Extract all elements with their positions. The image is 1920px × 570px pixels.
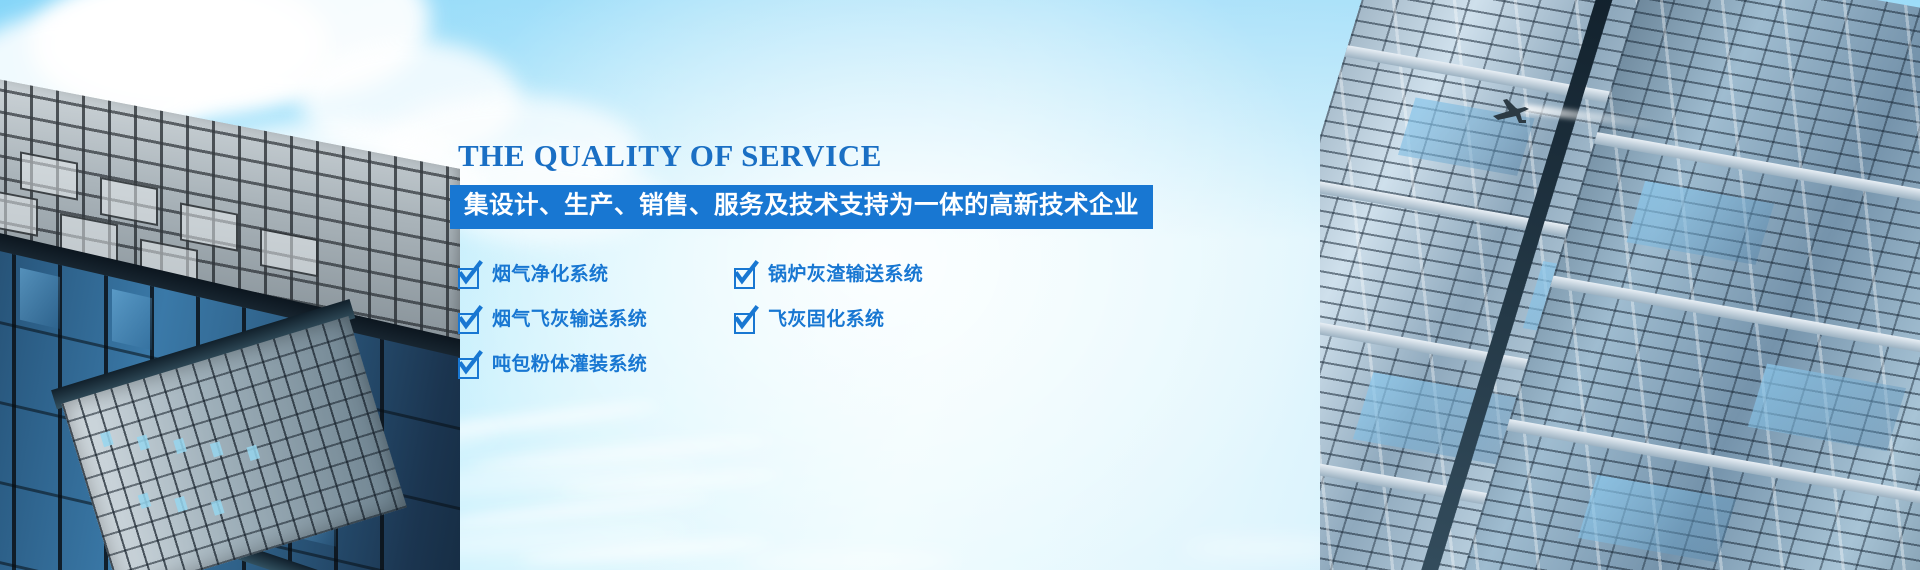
banner-content: THE QUALITY OF SERVICE 集设计、生产、销售、服务及技术支持… bbox=[458, 140, 1218, 400]
feature-row: 烟气净化系统 锅炉灰渣输送系统 bbox=[458, 265, 1158, 289]
feature-list: 烟气净化系统 锅炉灰渣输送系统 烟气飞灰输送系统 bbox=[458, 265, 1158, 379]
facade-glass-pane bbox=[20, 268, 60, 329]
feature-label: 吨包粉体灌装系统 bbox=[492, 355, 647, 375]
checkbox-checked-icon[interactable] bbox=[458, 358, 479, 379]
feature-label: 烟气飞灰输送系统 bbox=[492, 310, 647, 330]
feature-label: 锅炉灰渣输送系统 bbox=[768, 265, 923, 285]
subtitle-bar: 集设计、生产、销售、服务及技术支持为一体的高新技术企业 bbox=[450, 185, 1153, 229]
facade-glass-pane bbox=[112, 289, 152, 350]
feature-row: 烟气飞灰输送系统 飞灰固化系统 bbox=[458, 310, 1158, 334]
feature-label: 烟气净化系统 bbox=[492, 265, 608, 285]
checkbox-checked-icon[interactable] bbox=[734, 268, 755, 289]
cloud-cirrus bbox=[740, 552, 960, 570]
feature-item[interactable]: 飞灰固化系统 bbox=[734, 310, 1064, 334]
right-skyscraper bbox=[1320, 0, 1920, 570]
hero-banner: THE QUALITY OF SERVICE 集设计、生产、销售、服务及技术支持… bbox=[0, 0, 1920, 570]
feature-row: 吨包粉体灌装系统 bbox=[458, 355, 1158, 379]
feature-item[interactable]: 烟气飞灰输送系统 bbox=[458, 310, 734, 334]
feature-label: 飞灰固化系统 bbox=[768, 310, 884, 330]
airplane-icon bbox=[1489, 96, 1531, 130]
page-title: THE QUALITY OF SERVICE bbox=[458, 140, 1218, 171]
feature-item[interactable]: 锅炉灰渣输送系统 bbox=[734, 265, 1064, 289]
feature-item[interactable]: 吨包粉体灌装系统 bbox=[458, 355, 788, 379]
facade-mullion bbox=[12, 254, 16, 570]
checkbox-checked-icon[interactable] bbox=[734, 313, 755, 334]
checkbox-checked-icon[interactable] bbox=[458, 268, 479, 289]
checkbox-checked-icon[interactable] bbox=[458, 313, 479, 334]
feature-item[interactable]: 烟气净化系统 bbox=[458, 265, 734, 289]
